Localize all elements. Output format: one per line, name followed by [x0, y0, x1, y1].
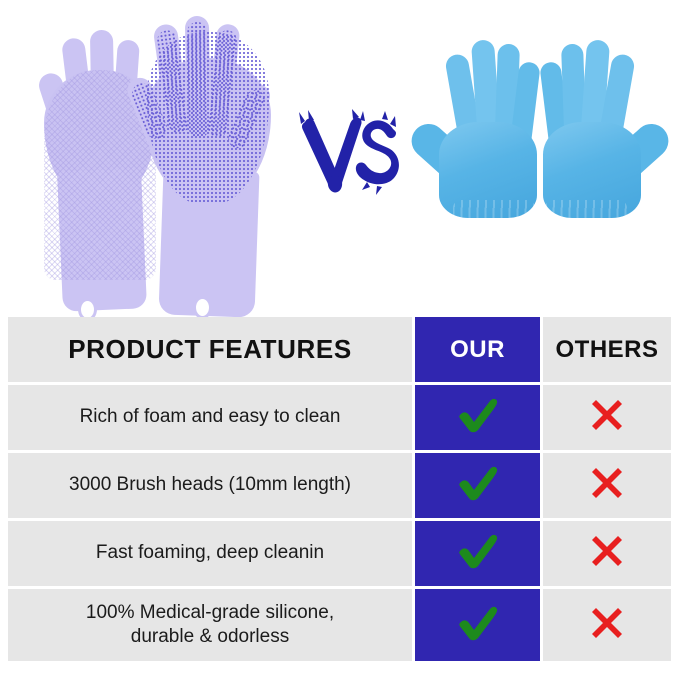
feature-label-line2: durable & odorless: [121, 625, 299, 649]
check-mark-icon: [456, 396, 500, 439]
table-row: 100% Medical-grade silicone, durable & o…: [8, 589, 671, 661]
others-cell: [543, 385, 671, 450]
blue-nitrile-gloves-image: [425, 30, 660, 295]
cross-mark-icon: [590, 606, 624, 645]
our-cell: [415, 385, 540, 450]
feature-label: 3000 Brush heads (10mm length): [59, 473, 361, 497]
our-cell: [415, 589, 540, 661]
others-cell: [543, 589, 671, 661]
header-cell-others: OTHERS: [543, 317, 671, 382]
product-comparison-hero: [0, 0, 679, 312]
check-mark-icon: [456, 464, 500, 507]
glove-cuff: [453, 200, 535, 294]
feature-label-line1: 100% Medical-grade silicone,: [76, 601, 344, 625]
header-label-features: PRODUCT FEATURES: [68, 334, 352, 365]
versus-icon: [297, 108, 407, 208]
header-label-our: OUR: [450, 336, 505, 364]
blue-glove-right: [533, 30, 653, 295]
feature-cell: Fast foaming, deep cleanin: [8, 521, 412, 586]
check-mark-icon: [456, 604, 500, 647]
table-header-row: PRODUCT FEATURES OUR OTHERS: [8, 317, 671, 382]
our-cell: [415, 521, 540, 586]
feature-cell: 3000 Brush heads (10mm length): [8, 453, 412, 518]
our-cell: [415, 453, 540, 518]
cross-mark-icon: [590, 534, 624, 573]
header-cell-features: PRODUCT FEATURES: [8, 317, 412, 382]
table-row: Fast foaming, deep cleanin: [8, 521, 671, 586]
feature-cell: Rich of foam and easy to clean: [8, 385, 412, 450]
feature-label: Rich of foam and easy to clean: [70, 405, 351, 429]
others-cell: [543, 521, 671, 586]
table-row: Rich of foam and easy to clean: [8, 385, 671, 450]
feature-cell: 100% Medical-grade silicone, durable & o…: [8, 589, 412, 661]
others-cell: [543, 453, 671, 518]
glove-hang-loop: [193, 296, 212, 319]
header-cell-our: OUR: [415, 317, 540, 382]
purple-silicone-gloves-image: [36, 8, 286, 308]
purple-glove-front: [131, 14, 281, 309]
blue-glove-left: [425, 30, 545, 295]
glove-cuff: [545, 200, 627, 294]
glove-bristle-palm-texture: [147, 32, 269, 204]
check-mark-icon: [456, 532, 500, 575]
feature-label: Fast foaming, deep cleanin: [86, 541, 334, 565]
header-label-others: OTHERS: [555, 336, 658, 364]
table-row: 3000 Brush heads (10mm length): [8, 453, 671, 518]
cross-mark-icon: [590, 398, 624, 437]
cross-mark-icon: [590, 466, 624, 505]
product-comparison-table: PRODUCT FEATURES OUR OTHERS Rich of foam…: [8, 317, 671, 665]
